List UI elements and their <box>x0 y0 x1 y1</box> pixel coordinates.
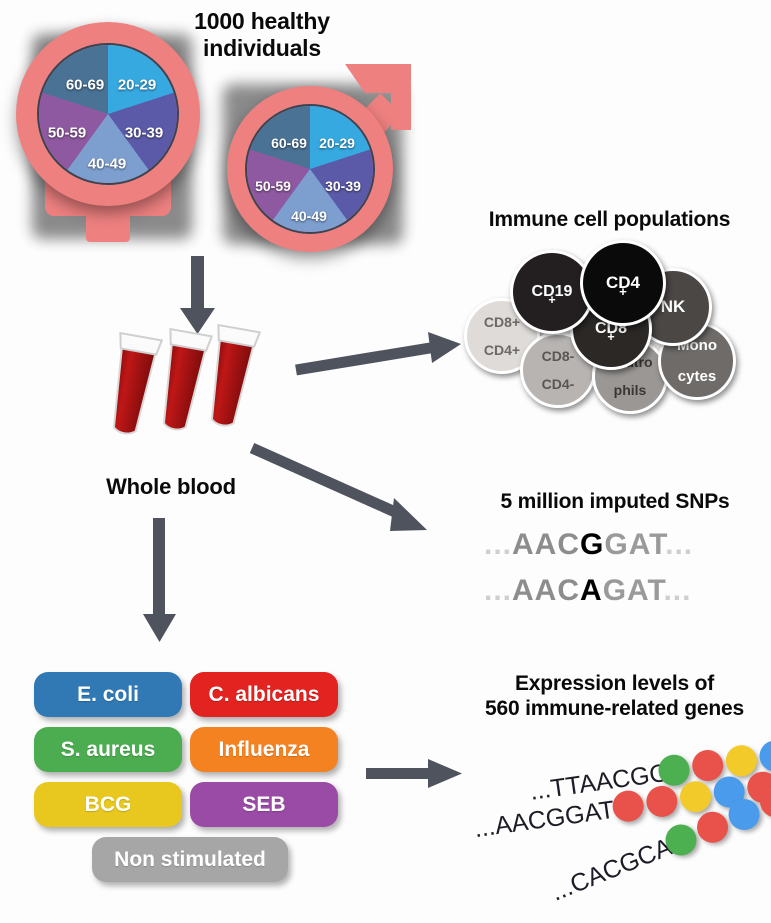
snp-prefix: ... <box>484 528 512 561</box>
stimulus-label: Influenza <box>218 738 309 762</box>
stimulus-pill-influenza[interactable]: Influenza <box>190 727 338 772</box>
whole-blood-label: Whole blood <box>86 474 256 500</box>
pie-label-male-40-49: 40-49 <box>291 208 327 224</box>
figure-canvas: 1000 healthy individuals 20-29 30-39 40-… <box>0 0 771 922</box>
pie-label-40-49: 40-49 <box>88 156 126 173</box>
stimulus-pill-c-albicans[interactable]: C. albicans <box>190 672 338 717</box>
pie-label-20-29: 20-29 <box>118 77 156 94</box>
snp-pre-bases: AAC <box>512 528 580 561</box>
female-symbol: 20-29 30-39 40-49 50-59 60-69 <box>8 14 208 244</box>
arrow-blood-to-immune <box>296 330 466 390</box>
pie-label-male-30-39: 30-39 <box>325 178 361 194</box>
snp-suffix: ... <box>663 574 691 607</box>
arrow-stimuli-to-expression <box>366 756 466 796</box>
pie-label-50-59: 50-59 <box>48 125 86 142</box>
stimulus-pill-s-aureus[interactable]: S. aureus <box>34 727 182 772</box>
arrow-blood-to-stimuli <box>140 518 180 643</box>
snp-variant-base: G <box>580 528 604 561</box>
expression-heading-line1: Expression levels of <box>462 672 767 697</box>
cell-cd8-cd4--line1: CD8- <box>542 349 575 363</box>
pie-label-male-50-59: 50-59 <box>255 178 291 194</box>
pie-label-male-20-29: 20-29 <box>319 135 355 151</box>
snp-sequences: ...AACGGAT... ...AACAGAT... <box>484 528 754 618</box>
blood-tubes <box>96 330 276 460</box>
male-age-pie: 20-29 30-39 40-49 50-59 60-69 <box>245 104 375 234</box>
cell-monocytes-line2: cytes <box>677 369 717 384</box>
arrow-cohort-to-blood <box>178 256 218 336</box>
stimulus-label: E. coli <box>77 683 139 707</box>
snp-post-bases: GAT <box>604 528 665 561</box>
expression-strands: ...TTAACGG ...AACGGAT ...CACGCAA <box>455 736 771 916</box>
expression-bead <box>678 779 713 814</box>
stimulus-label: BCG <box>85 793 132 817</box>
cell-neutrophils-line2: phils <box>607 383 652 397</box>
cell-nk-label: NK <box>661 298 686 315</box>
expression-bead <box>758 739 771 774</box>
snp-variant-base: A <box>580 574 603 607</box>
snp-prefix: ... <box>484 574 512 607</box>
cell-cd8+cd4+-line1: CD8+ <box>484 315 520 329</box>
expression-heading: Expression levels of 560 immune-related … <box>462 672 767 722</box>
cell-cd4: CD4+ <box>580 240 666 326</box>
stimulus-pill-bcg[interactable]: BCG <box>34 782 182 827</box>
cell-cd8-cd4--line2: CD4- <box>542 377 575 391</box>
immune-heading: Immune cell populations <box>452 208 767 233</box>
male-symbol: 20-29 30-39 40-49 50-59 60-69 <box>205 60 435 255</box>
stimulus-pill-e-coli[interactable]: E. coli <box>34 672 182 717</box>
snp-sequence-row: ...AACAGAT... <box>484 574 691 608</box>
stimulus-pill-non-stimulated[interactable]: Non stimulated <box>92 837 288 882</box>
pie-label-male-60-69: 60-69 <box>271 135 307 151</box>
stimulus-pill-seb[interactable]: SEB <box>190 782 338 827</box>
pie-label-60-69: 60-69 <box>66 77 104 94</box>
blood-tube <box>103 333 161 437</box>
snp-suffix: ... <box>665 528 693 561</box>
pie-label-30-39: 30-39 <box>125 125 163 142</box>
snp-pre-bases: AAC <box>512 574 580 607</box>
stimuli-panel: E. coli C. albicans S. aureus Influenza … <box>30 672 350 897</box>
stimulus-label: SEB <box>242 793 285 817</box>
blood-tube <box>153 329 211 433</box>
stimulus-label: Non stimulated <box>114 848 266 872</box>
stimulus-label: C. albicans <box>209 683 320 707</box>
cell-cd8+cd4+-line2: CD4+ <box>484 343 520 357</box>
snps-heading: 5 million imputed SNPs <box>470 490 760 515</box>
snp-sequence-row: ...AACGGAT... <box>484 528 693 562</box>
stimulus-label: S. aureus <box>61 738 156 762</box>
snp-post-bases: GAT <box>603 574 664 607</box>
immune-cell-cluster: CD8+ CD4+ CD8- CD4- Neutro phils Mono cy… <box>462 240 762 415</box>
arrow-blood-to-snps <box>252 448 442 548</box>
expression-bead <box>644 784 679 819</box>
expression-bead <box>611 789 646 824</box>
expression-heading-line2: 560 immune-related genes <box>462 697 767 722</box>
female-age-pie: 20-29 30-39 40-49 50-59 60-69 <box>37 43 179 185</box>
